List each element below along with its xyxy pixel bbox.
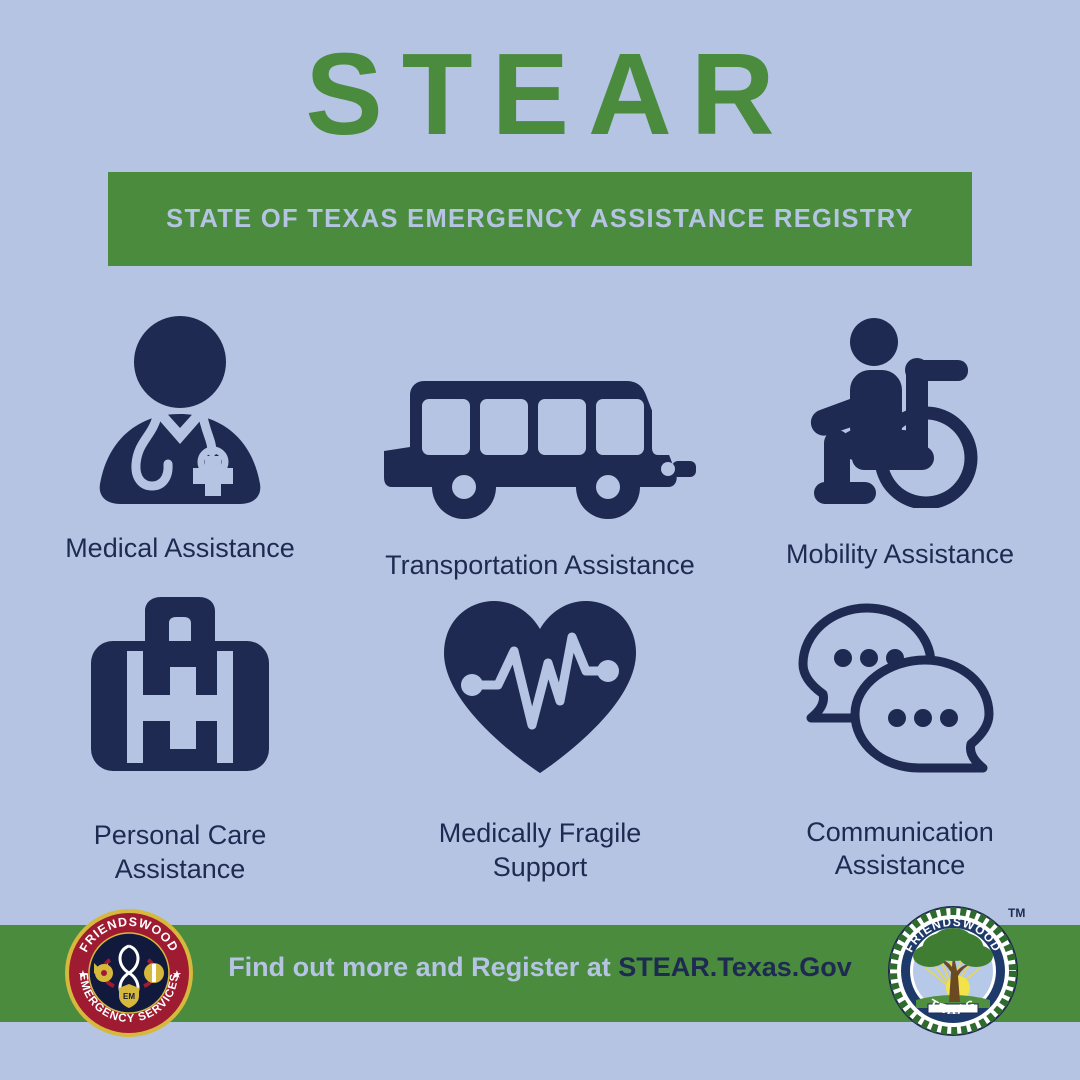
trademark-symbol: TM [1008, 906, 1025, 920]
stear-website-link[interactable]: STEAR.Texas.Gov [618, 952, 852, 982]
doctor-stethoscope-icon [80, 308, 280, 508]
badge-center-text: EM [123, 992, 135, 1001]
service-item-medically-fragile: Medically Fragile Support [360, 583, 720, 883]
friendswood-emergency-services-seal: FRIENDSWOOD EMERGENCY SERVICES ★ ★ [62, 906, 196, 1040]
services-grid: Medical Assistance [0, 300, 1080, 883]
subtitle-banner: STATE OF TEXAS EMERGENCY ASSISTANCE REGI… [108, 172, 972, 266]
bus-icon [380, 330, 700, 527]
service-label: Personal Care Assistance [94, 819, 267, 887]
page-title: STEAR [0, 36, 1080, 152]
service-label: Medical Assistance [65, 532, 295, 566]
service-label: Communication Assistance [806, 816, 994, 884]
service-label: Transportation Assistance [385, 549, 695, 583]
heart-pulse-icon [436, 597, 644, 777]
star-icon: ★ [78, 969, 88, 981]
service-item-medical: Medical Assistance [0, 300, 360, 583]
service-item-personal-care: Personal Care Assistance [0, 583, 360, 883]
wheelchair-user-icon [802, 308, 998, 508]
service-item-communication: Communication Assistance [720, 583, 1080, 883]
subtitle-text: STATE OF TEXAS EMERGENCY ASSISTANCE REGI… [166, 205, 914, 234]
footer-cta-text: Find out more and Register at [228, 952, 618, 982]
star-icon: ★ [172, 969, 182, 981]
service-label: Medically Fragile Support [439, 817, 642, 885]
service-item-mobility: Mobility Assistance [720, 300, 1080, 583]
speech-bubbles-icon [797, 597, 1003, 778]
city-of-friendswood-texas-seal: FRIENDSWOOD TEXAS [886, 904, 1020, 1038]
stear-infographic: STEAR STATE OF TEXAS EMERGENCY ASSISTANC… [0, 0, 1080, 1080]
first-aid-kit-icon [85, 597, 275, 775]
service-item-transportation: Transportation Assistance [360, 300, 720, 583]
service-label: Mobility Assistance [786, 538, 1014, 572]
